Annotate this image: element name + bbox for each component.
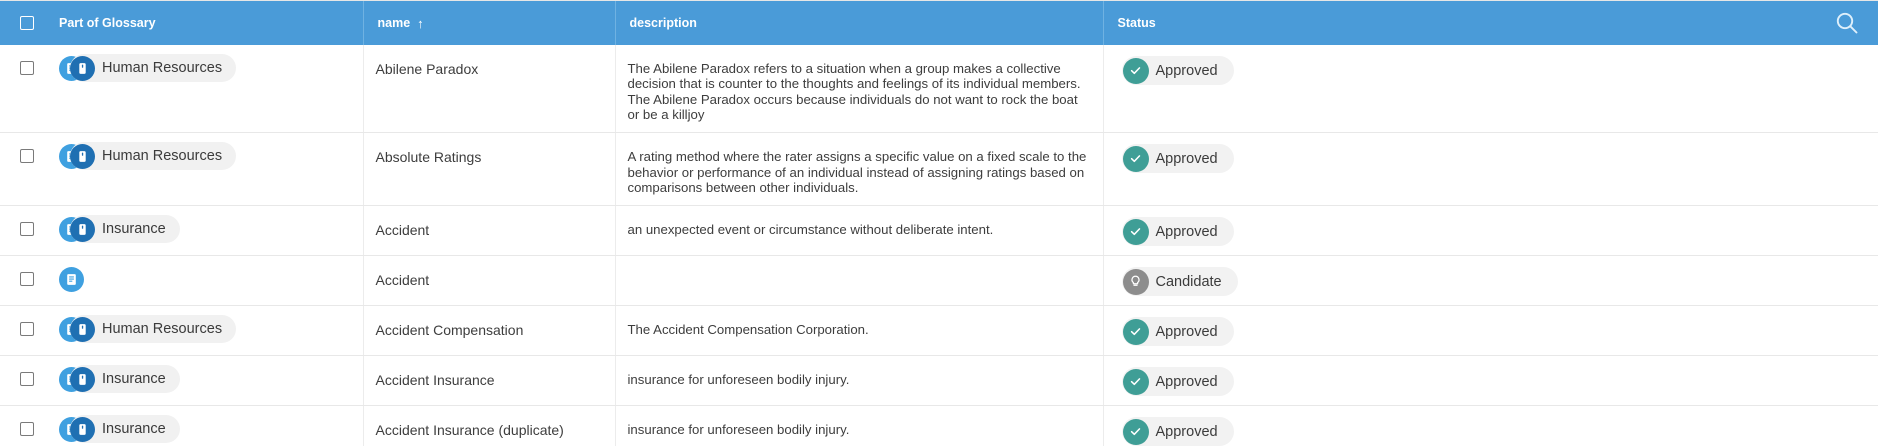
part-of-glossary-cell[interactable]: Insurance [45,406,363,446]
status-label: Approved [1156,324,1218,340]
glossary-label: Human Resources [102,148,222,164]
description-cell[interactable]: The Abilene Paradox refers to a situatio… [615,45,1103,133]
status-badge[interactable]: Candidate [1122,267,1238,296]
column-header-description[interactable]: description [615,1,1103,45]
glossary-pill[interactable]: Insurance [70,415,180,443]
term-icon[interactable] [70,317,95,342]
row-checkbox[interactable] [20,61,34,75]
row-select-cell[interactable] [0,406,45,446]
glossary-pill[interactable]: Human Resources [70,54,236,82]
glossary-table: Part of Glossary name↑ description Statu… [0,1,1878,446]
status-label: Candidate [1156,274,1222,290]
status-label: Approved [1156,224,1218,240]
status-cell[interactable]: Approved [1103,356,1878,406]
glossary-group: Insurance [59,215,180,243]
glossary-group: Insurance [59,365,180,393]
status-badge[interactable]: Approved [1122,317,1234,346]
row-select-cell[interactable] [0,45,45,133]
column-header-label-description: description [630,16,697,30]
table-row[interactable]: InsuranceAccident Insurance (duplicate)i… [0,406,1878,446]
description-cell[interactable]: A rating method where the rater assigns … [615,133,1103,206]
status-label: Approved [1156,63,1218,79]
row-select-cell[interactable] [0,356,45,406]
status-badge[interactable]: Approved [1122,217,1234,246]
part-of-glossary-cell[interactable]: Insurance [45,206,363,256]
column-header-name[interactable]: name↑ [363,1,615,45]
status-cell[interactable]: Candidate [1103,256,1878,306]
name-cell[interactable]: Accident [363,256,615,306]
row-select-cell[interactable] [0,133,45,206]
table-header-row: Part of Glossary name↑ description Statu… [0,1,1878,45]
term-icon[interactable] [70,417,95,442]
glossary-label: Insurance [102,421,166,437]
row-checkbox[interactable] [20,372,34,386]
status-badge[interactable]: Approved [1122,144,1234,173]
column-header-status[interactable]: Status [1103,1,1878,45]
glossary-table-view: Part of Glossary name↑ description Statu… [0,0,1878,446]
table-row[interactable]: Human ResourcesAccident CompensationThe … [0,306,1878,356]
table-row[interactable]: Human ResourcesAbilene ParadoxThe Abilen… [0,45,1878,133]
check-icon [1123,419,1149,445]
description-cell[interactable]: insurance for unforeseen bodily injury. [615,356,1103,406]
status-badge[interactable]: Approved [1122,56,1234,85]
column-header-label-status: Status [1118,16,1156,30]
row-select-cell[interactable] [0,206,45,256]
check-icon [1123,219,1149,245]
status-cell[interactable]: Approved [1103,206,1878,256]
glossary-group: Human Resources [59,315,236,343]
part-of-glossary-cell[interactable]: Human Resources [45,306,363,356]
part-of-glossary-cell[interactable]: Human Resources [45,133,363,206]
lightbulb-icon [1123,269,1149,295]
term-icon[interactable] [70,56,95,81]
glossary-pill[interactable]: Human Resources [70,142,236,170]
term-icon[interactable] [70,367,95,392]
table-header: Part of Glossary name↑ description Statu… [0,1,1878,45]
glossary-group: Human Resources [59,54,236,82]
check-icon [1123,319,1149,345]
column-header-part-of-glossary[interactable]: Part of Glossary [45,1,363,45]
description-cell[interactable]: insurance for unforeseen bodily injury. [615,406,1103,446]
check-icon [1123,146,1149,172]
glossary-label: Human Resources [102,321,222,337]
status-cell[interactable]: Approved [1103,45,1878,133]
glossary-group: Insurance [59,415,180,443]
column-header-label-name: name [378,16,411,30]
part-of-glossary-cell[interactable] [45,256,363,306]
table-row[interactable]: AccidentCandidate [0,256,1878,306]
table-row[interactable]: InsuranceAccident Insuranceinsurance for… [0,356,1878,406]
select-all-checkbox[interactable] [20,16,34,30]
name-cell[interactable]: Accident Insurance (duplicate) [363,406,615,446]
status-cell[interactable]: Approved [1103,406,1878,446]
check-icon [1123,369,1149,395]
table-row[interactable]: Human ResourcesAbsolute RatingsA rating … [0,133,1878,206]
row-select-cell[interactable] [0,306,45,356]
glossary-pill[interactable]: Insurance [70,365,180,393]
name-cell[interactable]: Accident [363,206,615,256]
status-cell[interactable]: Approved [1103,133,1878,206]
table-body: Human ResourcesAbilene ParadoxThe Abilen… [0,45,1878,446]
description-cell[interactable] [615,256,1103,306]
name-cell[interactable]: Absolute Ratings [363,133,615,206]
glossary-group [59,265,84,293]
status-label: Approved [1156,374,1218,390]
part-of-glossary-cell[interactable]: Insurance [45,356,363,406]
row-checkbox[interactable] [20,149,34,163]
column-header-select-all[interactable] [0,1,45,45]
status-badge[interactable]: Approved [1122,367,1234,396]
glossary-group: Human Resources [59,142,236,170]
status-label: Approved [1156,151,1218,167]
row-select-cell[interactable] [0,256,45,306]
name-cell[interactable]: Abilene Paradox [363,45,615,133]
status-cell[interactable]: Approved [1103,306,1878,356]
status-label: Approved [1156,424,1218,440]
glossary-label: Human Resources [102,60,222,76]
description-cell[interactable]: The Accident Compensation Corporation. [615,306,1103,356]
column-header-label-glossary: Part of Glossary [59,16,156,30]
part-of-glossary-cell[interactable]: Human Resources [45,45,363,133]
glossary-label: Insurance [102,221,166,237]
row-checkbox[interactable] [20,222,34,236]
glossary-pill[interactable]: Human Resources [70,315,236,343]
name-cell[interactable]: Accident Insurance [363,356,615,406]
sort-ascending-icon[interactable]: ↑ [417,17,424,30]
status-badge[interactable]: Approved [1122,417,1234,446]
search-icon[interactable] [1834,10,1860,36]
row-checkbox[interactable] [20,422,34,436]
description-cell[interactable]: an unexpected event or circumstance with… [615,206,1103,256]
glossary-label: Insurance [102,371,166,387]
row-checkbox[interactable] [20,322,34,336]
name-cell[interactable]: Accident Compensation [363,306,615,356]
term-icon[interactable] [70,144,95,169]
glossary-pill[interactable]: Insurance [70,215,180,243]
table-row[interactable]: InsuranceAccidentan unexpected event or … [0,206,1878,256]
check-icon [1123,58,1149,84]
row-checkbox[interactable] [20,272,34,286]
document-icon[interactable] [59,267,84,292]
term-icon[interactable] [70,217,95,242]
